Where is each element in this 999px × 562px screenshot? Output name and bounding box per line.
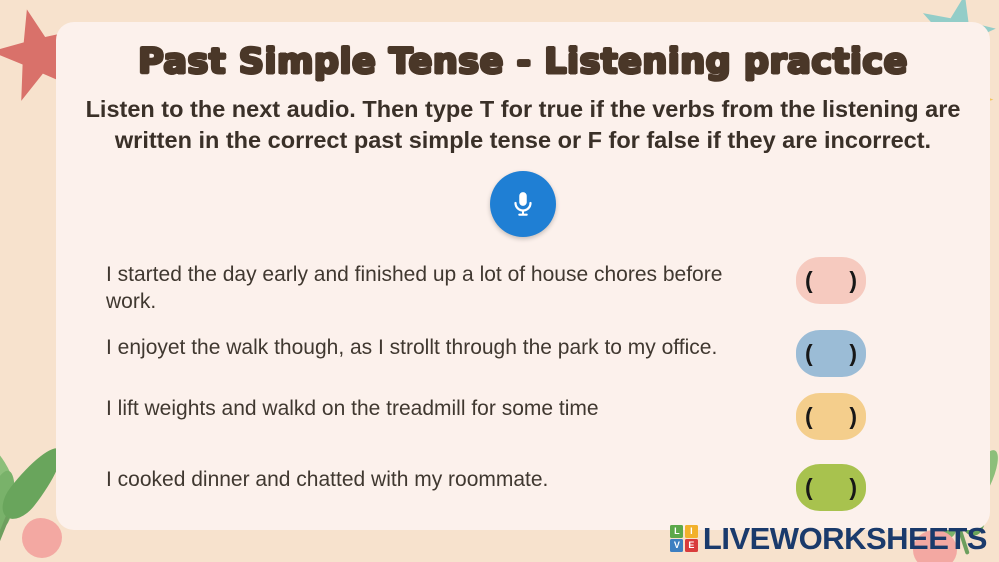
leaf-decoration-bottom-left-back <box>0 441 18 498</box>
answer-input-1[interactable]: ( ) <box>796 257 866 304</box>
open-paren: ( <box>805 474 813 501</box>
question-text: I cooked dinner and chatted with my room… <box>106 462 796 494</box>
answer-input-4[interactable]: ( ) <box>796 464 866 511</box>
open-paren: ( <box>805 267 813 294</box>
audio-player-row <box>56 171 990 237</box>
worksheet-card: Past Simple Tense - Listening practice L… <box>56 22 990 530</box>
microphone-icon <box>508 189 538 219</box>
open-paren: ( <box>805 340 813 367</box>
page-title: Past Simple Tense - Listening practice <box>56 22 990 82</box>
liveworksheets-logo: L I V E LIVEWORKSHEETS <box>670 523 987 554</box>
question-row: I lift weights and walkd on the treadmil… <box>106 391 944 440</box>
answer-input-2[interactable]: ( ) <box>796 330 866 377</box>
logo-tile-e: E <box>685 539 698 552</box>
open-paren: ( <box>805 403 813 430</box>
logo-tile-i: I <box>685 525 698 538</box>
answer-input-3[interactable]: ( ) <box>796 393 866 440</box>
questions-list: I started the day early and finished up … <box>56 257 990 512</box>
question-text: I enjoyet the walk though, as I strollt … <box>106 330 796 362</box>
logo-tile-v: V <box>670 539 683 552</box>
logo-tile-l: L <box>670 525 683 538</box>
question-text: I started the day early and finished up … <box>106 257 796 317</box>
question-row: I cooked dinner and chatted with my room… <box>106 462 944 511</box>
question-text: I lift weights and walkd on the treadmil… <box>106 391 796 423</box>
question-row: I started the day early and finished up … <box>106 257 944 317</box>
close-paren: ) <box>849 267 857 294</box>
leaf-decoration-bottom-left-mid <box>0 468 21 534</box>
logo-wordmark: LIVEWORKSHEETS <box>703 523 987 554</box>
close-paren: ) <box>849 340 857 367</box>
berry-decoration-bottom-left <box>22 518 62 558</box>
question-row: I enjoyet the walk though, as I strollt … <box>106 330 944 377</box>
close-paren: ) <box>849 403 857 430</box>
play-audio-button[interactable] <box>490 171 556 237</box>
instructions-text: Listen to the next audio. Then type T fo… <box>83 94 963 157</box>
close-paren: ) <box>849 474 857 501</box>
stem-decoration-bottom-left <box>0 482 23 550</box>
worksheet-page: Past Simple Tense - Listening practice L… <box>0 0 999 562</box>
logo-tiles: L I V E <box>670 525 698 553</box>
